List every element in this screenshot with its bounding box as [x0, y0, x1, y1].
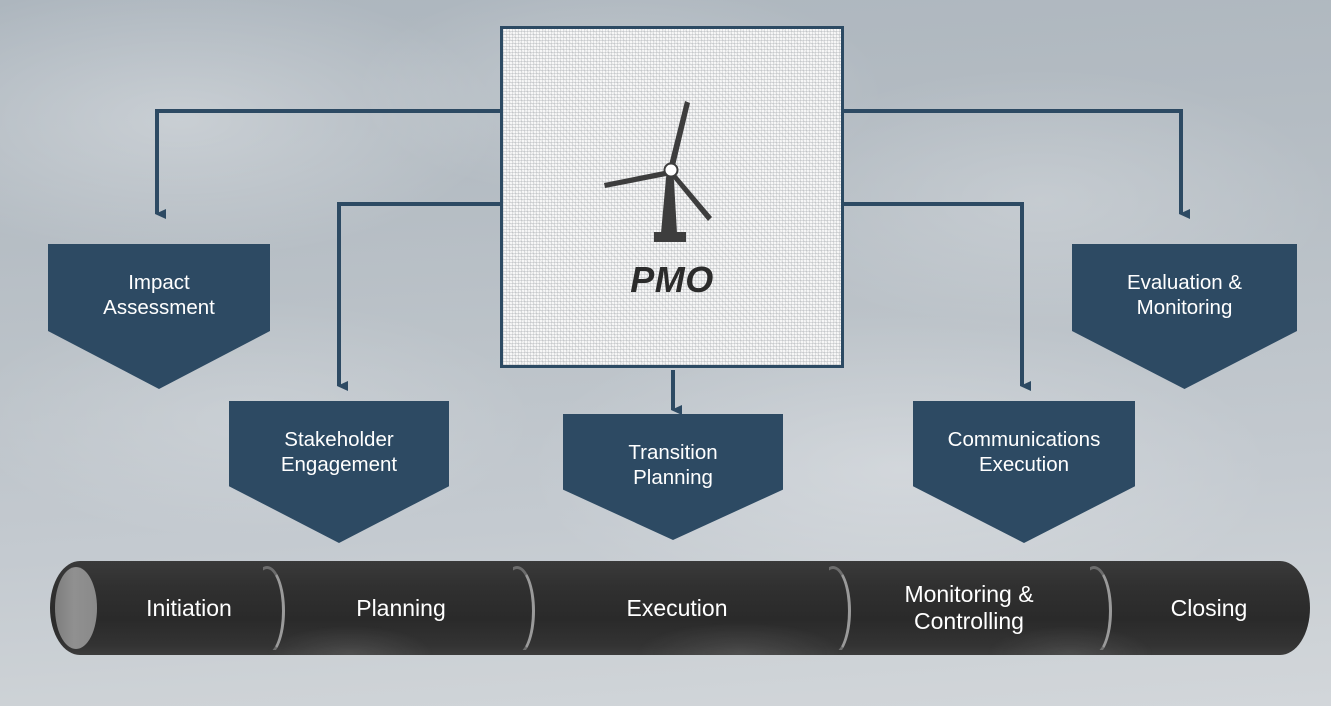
phase-line1: Planning	[356, 595, 446, 621]
phase-initiation[interactable]: Initiation	[96, 561, 282, 655]
callout-line1: Impact	[128, 271, 190, 294]
phase-closing[interactable]: Closing	[1116, 561, 1302, 655]
pmo-label: PMO	[630, 259, 714, 301]
callout-line1: Transition	[628, 441, 717, 464]
connector-to-stakeholder-engagement	[339, 204, 500, 386]
diagram-canvas: PMO Impact Assessment Stakeholder Engage…	[0, 0, 1331, 706]
phase-line1: Closing	[1171, 595, 1248, 621]
project-phase-pipeline: Initiation Planning Execution Monitoring…	[50, 561, 1310, 655]
pipeline-left-cap	[55, 567, 97, 649]
callout-line2: Planning	[633, 466, 713, 489]
connector-to-evaluation-monitoring	[844, 111, 1181, 214]
callout-line1: Communications	[948, 428, 1101, 451]
phase-monitoring-controlling[interactable]: Monitoring & Controlling	[856, 561, 1082, 655]
phase-planning[interactable]: Planning	[290, 561, 512, 655]
callout-line2: Engagement	[281, 453, 397, 476]
phase-line2: Controlling	[914, 608, 1024, 634]
connector-to-impact-assessment	[157, 111, 500, 214]
connector-to-communications-execution	[844, 204, 1022, 386]
phase-line1: Monitoring &	[904, 581, 1033, 607]
pmo-center-box[interactable]: PMO	[500, 26, 844, 368]
phase-line1: Execution	[626, 595, 727, 621]
phase-execution[interactable]: Execution	[542, 561, 812, 655]
callout-line1: Stakeholder	[284, 428, 393, 451]
callout-line2: Monitoring	[1137, 296, 1233, 319]
callout-line1: Evaluation &	[1127, 271, 1242, 294]
wind-turbine-icon	[592, 87, 752, 257]
phase-line1: Initiation	[146, 595, 232, 621]
callout-line2: Assessment	[103, 296, 215, 319]
callout-line2: Execution	[979, 453, 1069, 476]
